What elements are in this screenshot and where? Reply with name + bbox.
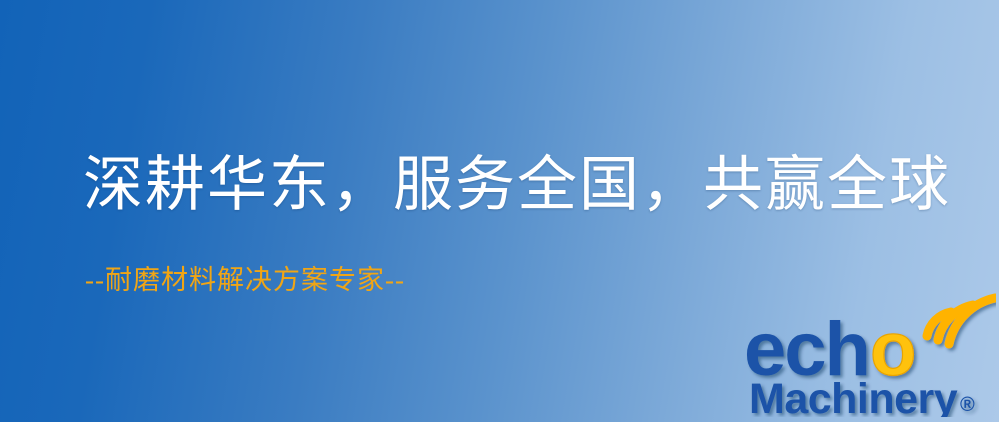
- hero-banner: 深耕华东，服务全国，共赢全球 --耐磨材料解决方案专家-- ech o: [0, 0, 999, 422]
- logo-registered-mark: ®: [960, 394, 975, 416]
- echo-waves-icon: [927, 298, 995, 344]
- logo-subword: Machinery: [749, 375, 958, 417]
- banner-subtitle: --耐磨材料解决方案专家--: [85, 266, 405, 296]
- echo-machinery-logo[interactable]: ech o Machinery ®: [744, 291, 996, 417]
- banner-headline: 深耕华东，服务全国，共赢全球: [83, 155, 951, 215]
